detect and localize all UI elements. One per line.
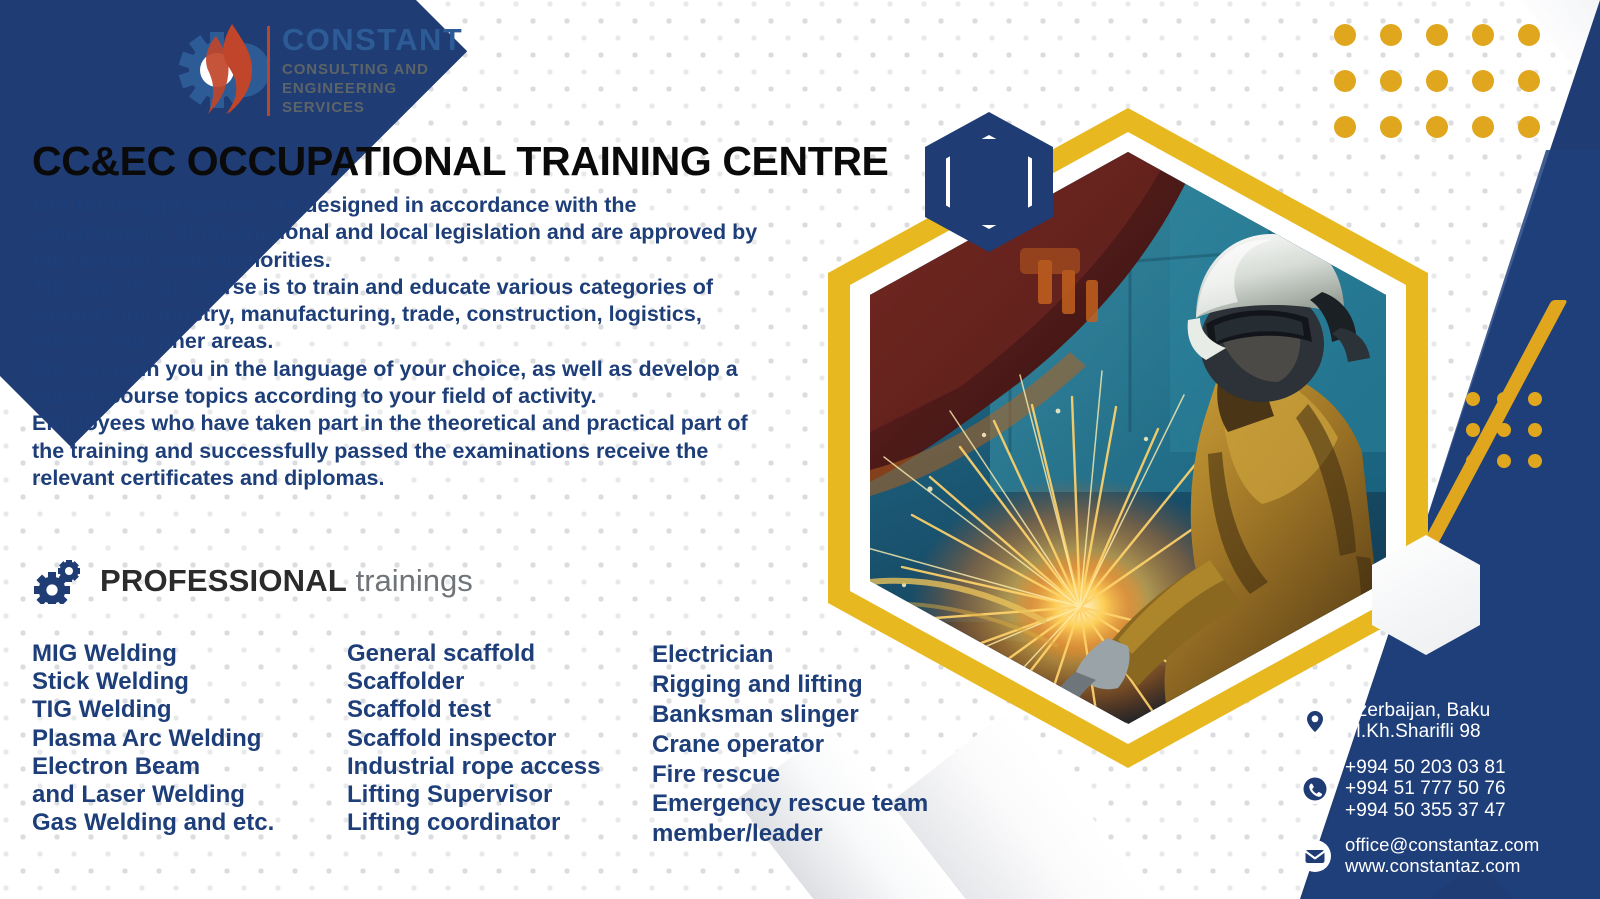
gold-dot — [1380, 24, 1402, 46]
logo-tagline-line-1: CONSULTING AND — [282, 60, 463, 79]
gold-dot — [1497, 423, 1511, 437]
gold-dot — [1466, 423, 1480, 437]
training-columns: MIG Welding Stick Welding TIG Welding Pl… — [32, 640, 982, 849]
intro-paragraph-1: Our training programs are designed in ac… — [32, 192, 772, 274]
logo-tagline: CONSULTING AND ENGINEERING SERVICES — [282, 60, 463, 118]
contact-email[interactable]: office@constantaz.com — [1345, 835, 1539, 856]
section-heading-bold: PROFESSIONAL — [100, 563, 347, 598]
poster-canvas: CONSTANT CONSULTING AND ENGINEERING SERV… — [0, 0, 1600, 899]
logo-company-name: CONSTANT — [282, 24, 463, 55]
list-item[interactable]: Electrician — [652, 640, 982, 670]
logo-tagline-line-2: ENGINEERING — [282, 79, 463, 98]
list-item[interactable]: Scaffolder — [347, 668, 652, 696]
contact-block: Azerbaijan, Baku M.Kh.Sharifli 98 +994 5… — [1298, 700, 1598, 891]
location-pin-icon — [1298, 704, 1332, 738]
list-item[interactable]: Stick Welding — [32, 668, 347, 696]
contact-phone-1[interactable]: +994 50 203 03 81 — [1345, 757, 1506, 778]
gold-dot — [1334, 24, 1356, 46]
logo-mark — [172, 18, 282, 122]
hexagon-badge-outline — [946, 135, 1032, 229]
intro-paragraph-2: The aim of our course is to train and ed… — [32, 274, 772, 356]
list-item[interactable]: Electron Beam — [32, 753, 347, 781]
section-heading: PROFESSIONAL trainings — [32, 556, 473, 604]
list-item[interactable]: Plasma Arc Welding — [32, 725, 347, 753]
gears-icon — [32, 556, 84, 604]
list-item[interactable]: Emergency rescue team — [652, 789, 982, 819]
list-item[interactable]: General scaffold — [347, 640, 652, 668]
list-item[interactable]: Crane operator — [652, 730, 982, 760]
training-column-welding: MIG Welding Stick Welding TIG Welding Pl… — [32, 640, 347, 849]
intro-paragraph-3: We can train you in the language of your… — [32, 356, 772, 411]
list-item[interactable]: Scaffold inspector — [347, 725, 652, 753]
list-item[interactable]: member/leader — [652, 819, 982, 849]
list-item[interactable]: Banksman slinger — [652, 700, 982, 730]
training-column-electrical-rescue: Electrician Rigging and lifting Banksman… — [652, 640, 982, 849]
contact-phones-text[interactable]: +994 50 203 03 81 +994 51 777 50 76 +994… — [1345, 757, 1506, 821]
gold-dot — [1518, 70, 1540, 92]
contact-address-line-2: M.Kh.Sharifli 98 — [1345, 721, 1490, 742]
gold-dot-grid-right-edge — [1466, 392, 1542, 468]
section-heading-light: trainings — [356, 563, 473, 598]
logo-divider — [267, 26, 270, 116]
intro-paragraph-4: Employees who have taken part in the the… — [32, 410, 772, 492]
contact-phone-2[interactable]: +994 51 777 50 76 — [1345, 778, 1506, 799]
envelope-icon[interactable] — [1298, 839, 1332, 873]
gold-dot — [1334, 70, 1356, 92]
contact-address-row: Azerbaijan, Baku M.Kh.Sharifli 98 — [1298, 700, 1598, 743]
contact-web-text[interactable]: office@constantaz.com www.constantaz.com — [1345, 835, 1539, 877]
contact-web-row: office@constantaz.com www.constantaz.com — [1298, 835, 1598, 877]
contact-website[interactable]: www.constantaz.com — [1345, 856, 1539, 877]
gold-dot — [1472, 24, 1494, 46]
contact-phone-3[interactable]: +994 50 355 37 47 — [1345, 800, 1506, 821]
training-column-scaffold-lifting: General scaffold Scaffolder Scaffold tes… — [347, 640, 652, 849]
contact-address-line-1: Azerbaijan, Baku — [1345, 700, 1490, 721]
gold-dot — [1518, 116, 1540, 138]
gold-dot — [1466, 392, 1480, 406]
gold-dot — [1466, 454, 1480, 468]
contact-phones-row: +994 50 203 03 81 +994 51 777 50 76 +994… — [1298, 757, 1598, 821]
list-item[interactable]: Rigging and lifting — [652, 670, 982, 700]
gold-dot — [1426, 24, 1448, 46]
gold-dot — [1528, 423, 1542, 437]
gold-dot — [1497, 392, 1511, 406]
company-logo[interactable]: CONSTANT CONSULTING AND ENGINEERING SERV… — [172, 18, 602, 126]
list-item[interactable]: Industrial rope access — [347, 753, 652, 781]
list-item[interactable]: Fire rescue — [652, 760, 982, 790]
list-item[interactable]: Scaffold test — [347, 696, 652, 724]
section-heading-text: PROFESSIONAL trainings — [100, 565, 473, 596]
list-item[interactable]: and Laser Welding — [32, 781, 347, 809]
gold-dot — [1518, 24, 1540, 46]
gold-dot — [1472, 70, 1494, 92]
gold-dot — [1528, 392, 1542, 406]
whatsapp-icon[interactable] — [1298, 772, 1332, 806]
list-item[interactable]: MIG Welding — [32, 640, 347, 668]
list-item[interactable]: Lifting Supervisor — [347, 781, 652, 809]
gold-dot — [1472, 116, 1494, 138]
list-item[interactable]: Lifting coordinator — [347, 809, 652, 837]
page-title: CC&EC OCCUPATIONAL TRAINING CENTRE — [32, 138, 889, 185]
list-item[interactable]: TIG Welding — [32, 696, 347, 724]
intro-copy: Our training programs are designed in ac… — [32, 192, 772, 492]
gold-dot — [1426, 116, 1448, 138]
logo-tagline-line-3: SERVICES — [282, 98, 463, 117]
gold-dot — [1497, 454, 1511, 468]
contact-address-text: Azerbaijan, Baku M.Kh.Sharifli 98 — [1345, 700, 1490, 743]
logo-wordmark: CONSTANT CONSULTING AND ENGINEERING SERV… — [282, 24, 463, 118]
list-item[interactable]: Gas Welding and etc. — [32, 809, 347, 837]
gold-dot — [1380, 70, 1402, 92]
gold-dot — [1528, 454, 1542, 468]
gold-dot — [1426, 70, 1448, 92]
